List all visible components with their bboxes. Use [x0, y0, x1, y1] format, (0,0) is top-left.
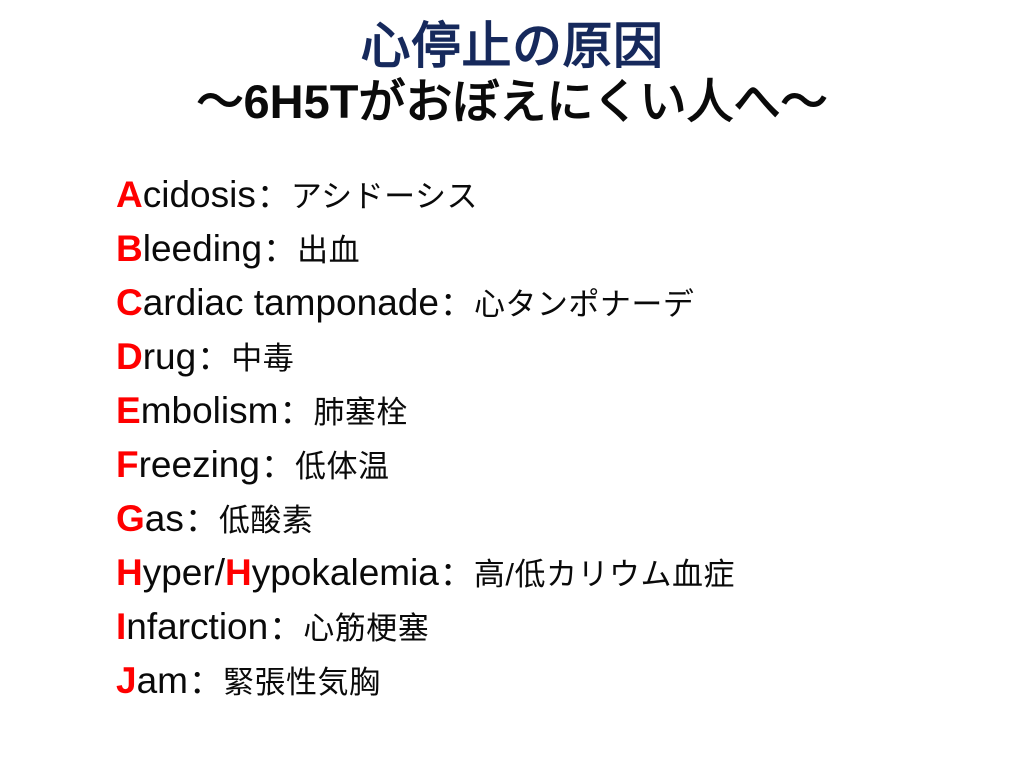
item-initial: J — [116, 660, 137, 701]
item-separator: ： — [278, 393, 313, 430]
list-item: Jam：緊張性気胸 — [116, 654, 996, 708]
item-japanese: 低酸素 — [219, 503, 314, 538]
item-latin: mbolism — [141, 390, 279, 431]
list-item: Drug：中毒 — [116, 330, 996, 384]
item-latin: ardiac tamponade — [143, 282, 439, 323]
item-separator: ： — [188, 663, 223, 700]
item-separator: ： — [260, 447, 295, 484]
page-title: 心停止の原因 — [0, 18, 1024, 74]
list-item: Embolism：肺塞栓 — [116, 384, 996, 438]
item-separator: ： — [268, 609, 303, 646]
item-latin: reezing — [139, 444, 260, 485]
item-initial: I — [116, 606, 126, 647]
item-separator: ： — [196, 339, 231, 376]
item-japanese: 出血 — [297, 233, 360, 268]
list-item: Cardiac tamponade：心タンポナーデ — [116, 276, 996, 330]
slide-title-block: 心停止の原因 〜6H5Tがおぼえにくい人へ〜 — [0, 18, 1024, 129]
cause-list: Acidosis：アシドーシス Bleeding：出血 Cardiac tamp… — [116, 168, 996, 708]
item-japanese: 肺塞栓 — [313, 395, 408, 430]
item-latin: yper/ — [143, 552, 225, 593]
item-initial: C — [116, 282, 143, 323]
item-latin: leeding — [143, 228, 262, 269]
list-item: Bleeding：出血 — [116, 222, 996, 276]
item-japanese: 中毒 — [231, 341, 294, 376]
item-latin-secondary: ypokalemia — [252, 552, 439, 593]
slide-canvas: 心停止の原因 〜6H5Tがおぼえにくい人へ〜 Acidosis：アシドーシス B… — [0, 0, 1024, 768]
item-japanese: アシドーシス — [291, 179, 478, 214]
item-japanese: 高/低カリウム血症 — [474, 557, 735, 592]
item-initial: F — [116, 444, 139, 485]
item-initial: E — [116, 390, 141, 431]
item-japanese: 心筋梗塞 — [303, 611, 429, 646]
item-separator: ： — [184, 501, 219, 538]
item-separator: ： — [256, 177, 291, 214]
item-initial: G — [116, 498, 145, 539]
list-item: Acidosis：アシドーシス — [116, 168, 996, 222]
item-initial-secondary: H — [225, 552, 252, 593]
item-initial: B — [116, 228, 143, 269]
item-initial: D — [116, 336, 143, 377]
item-japanese: 低体温 — [295, 449, 390, 484]
item-separator: ： — [439, 555, 474, 592]
item-latin: cidosis — [143, 174, 256, 215]
item-separator: ： — [439, 285, 474, 322]
item-latin: rug — [143, 336, 196, 377]
item-latin: nfarction — [126, 606, 268, 647]
item-latin: am — [137, 660, 188, 701]
item-latin: as — [145, 498, 184, 539]
item-initial: H — [116, 552, 143, 593]
page-subtitle: 〜6H5Tがおぼえにくい人へ〜 — [0, 76, 1024, 129]
item-separator: ： — [262, 231, 297, 268]
item-japanese: 緊張性気胸 — [223, 665, 381, 700]
list-item: Infarction：心筋梗塞 — [116, 600, 996, 654]
list-item: Gas：低酸素 — [116, 492, 996, 546]
list-item: Freezing：低体温 — [116, 438, 996, 492]
item-japanese: 心タンポナーデ — [474, 287, 695, 322]
item-initial: A — [116, 174, 143, 215]
list-item: Hyper/Hypokalemia：高/低カリウム血症 — [116, 546, 996, 600]
